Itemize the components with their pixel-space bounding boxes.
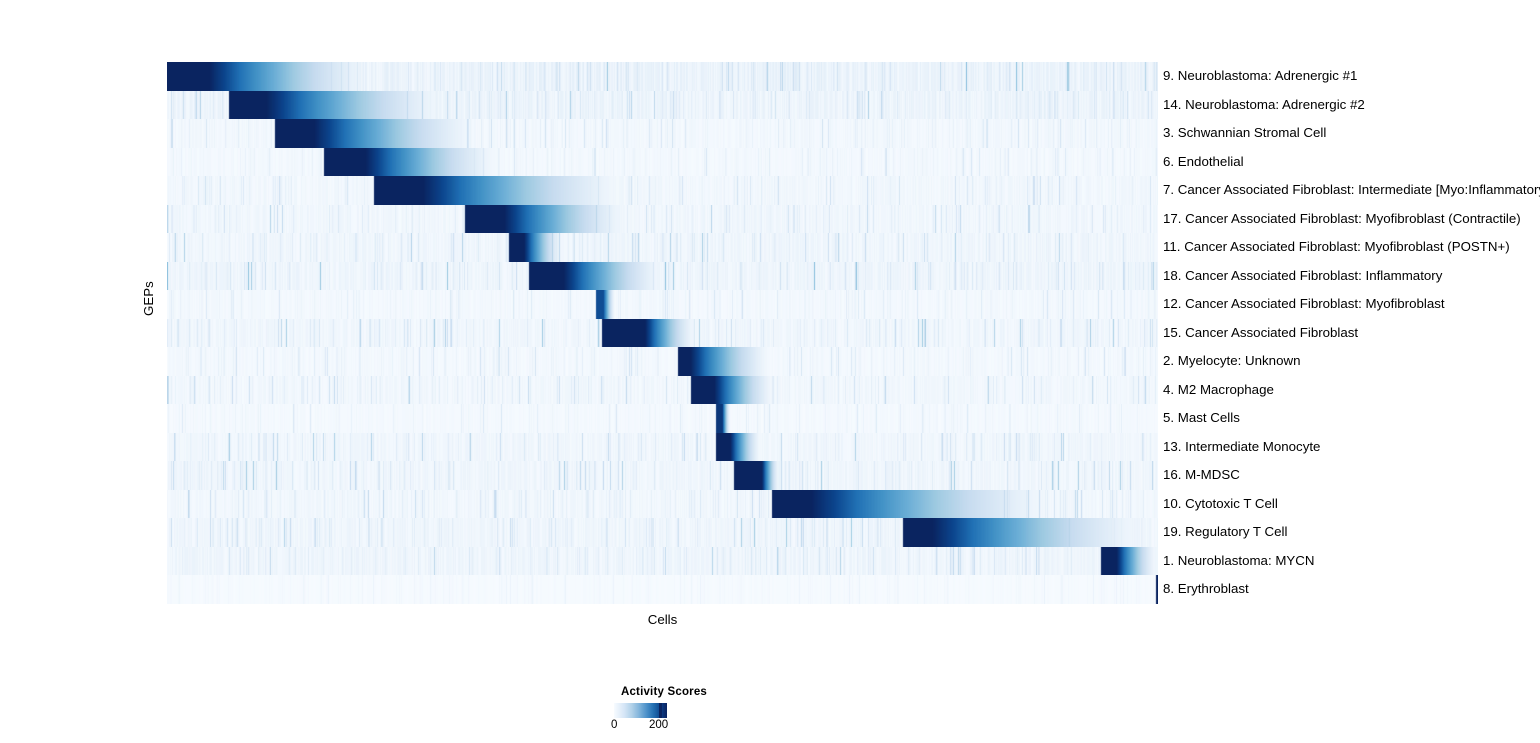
x-axis-title: Cells	[167, 612, 1158, 627]
heatmap-row	[167, 461, 1158, 490]
heatmap-row-cells	[167, 461, 1158, 490]
heatmap-row-label: 1. Neuroblastoma: MYCN	[1163, 547, 1315, 576]
heatmap-row	[167, 490, 1158, 519]
heatmap-row	[167, 148, 1158, 177]
heatmap-row-cells	[167, 176, 1158, 205]
heatmap-row	[167, 404, 1158, 433]
heatmap-row-label: 11. Cancer Associated Fibroblast: Myofib…	[1163, 233, 1510, 262]
heatmap-row-label: 13. Intermediate Monocyte	[1163, 433, 1320, 462]
heatmap-row-cells	[167, 119, 1158, 148]
heatmap-row	[167, 518, 1158, 547]
heatmap-row-label: 5. Mast Cells	[1163, 404, 1240, 433]
heatmap-row	[167, 347, 1158, 376]
heatmap-plot-area[interactable]	[167, 62, 1158, 604]
heatmap-row-label: 9. Neuroblastoma: Adrenergic #1	[1163, 62, 1357, 91]
heatmap-row	[167, 205, 1158, 234]
heatmap-row	[167, 119, 1158, 148]
heatmap-row-cells	[167, 575, 1158, 604]
heatmap-row	[167, 547, 1158, 576]
heatmap-row-cells	[167, 490, 1158, 519]
heatmap-row-cells	[167, 547, 1158, 576]
colorbar-legend: Activity Scores 0 200	[560, 686, 820, 741]
heatmap-row-label: 2. Myelocyte: Unknown	[1163, 347, 1300, 376]
heatmap-row-label: 14. Neuroblastoma: Adrenergic #2	[1163, 91, 1365, 120]
colorbar-tick-label-0: 0	[611, 719, 617, 731]
heatmap-row-cells	[167, 290, 1158, 319]
heatmap-row-cells	[167, 376, 1158, 405]
heatmap-row-label: 18. Cancer Associated Fibroblast: Inflam…	[1163, 262, 1442, 291]
heatmap-row-cells	[167, 404, 1158, 433]
heatmap-row	[167, 433, 1158, 462]
y-axis-title: GEPs	[141, 281, 156, 316]
heatmap-row-label: 17. Cancer Associated Fibroblast: Myofib…	[1163, 205, 1521, 234]
heatmap-row-cells	[167, 262, 1158, 291]
heatmap-row	[167, 376, 1158, 405]
heatmap-row-label: 3. Schwannian Stromal Cell	[1163, 119, 1326, 148]
heatmap-figure: 9. Neuroblastoma: Adrenergic #114. Neuro…	[0, 0, 1540, 743]
heatmap-row-label: 4. M2 Macrophage	[1163, 376, 1274, 405]
heatmap-row-label: 16. M-MDSC	[1163, 461, 1240, 490]
heatmap-row	[167, 319, 1158, 348]
heatmap-row-cells	[167, 433, 1158, 462]
heatmap-row-cells	[167, 347, 1158, 376]
colorbar-tick-mark	[659, 703, 662, 718]
heatmap-row	[167, 290, 1158, 319]
heatmap-row	[167, 262, 1158, 291]
heatmap-row-label-list: 9. Neuroblastoma: Adrenergic #114. Neuro…	[1163, 62, 1540, 604]
heatmap-row-cells	[167, 319, 1158, 348]
heatmap-row	[167, 91, 1158, 120]
heatmap-row-label: 15. Cancer Associated Fibroblast	[1163, 319, 1358, 348]
colorbar-title: Activity Scores	[560, 686, 768, 698]
heatmap-row-label: 12. Cancer Associated Fibroblast: Myofib…	[1163, 290, 1445, 319]
heatmap-row	[167, 575, 1158, 604]
heatmap-row	[167, 176, 1158, 205]
heatmap-row-label: 7. Cancer Associated Fibroblast: Interme…	[1163, 176, 1540, 205]
heatmap-row-label: 10. Cytotoxic T Cell	[1163, 490, 1278, 519]
heatmap-row	[167, 233, 1158, 262]
heatmap-row	[167, 62, 1158, 91]
heatmap-row-label: 8. Erythroblast	[1163, 575, 1249, 604]
colorbar-tick-label-200: 200	[649, 719, 668, 731]
heatmap-row-cells	[167, 62, 1158, 91]
heatmap-row-label: 6. Endothelial	[1163, 148, 1244, 177]
heatmap-row-cells	[167, 148, 1158, 177]
heatmap-row-cells	[167, 518, 1158, 547]
heatmap-row-cells	[167, 233, 1158, 262]
heatmap-row-cells	[167, 91, 1158, 120]
heatmap-row-label: 19. Regulatory T Cell	[1163, 518, 1287, 547]
heatmap-row-cells	[167, 205, 1158, 234]
